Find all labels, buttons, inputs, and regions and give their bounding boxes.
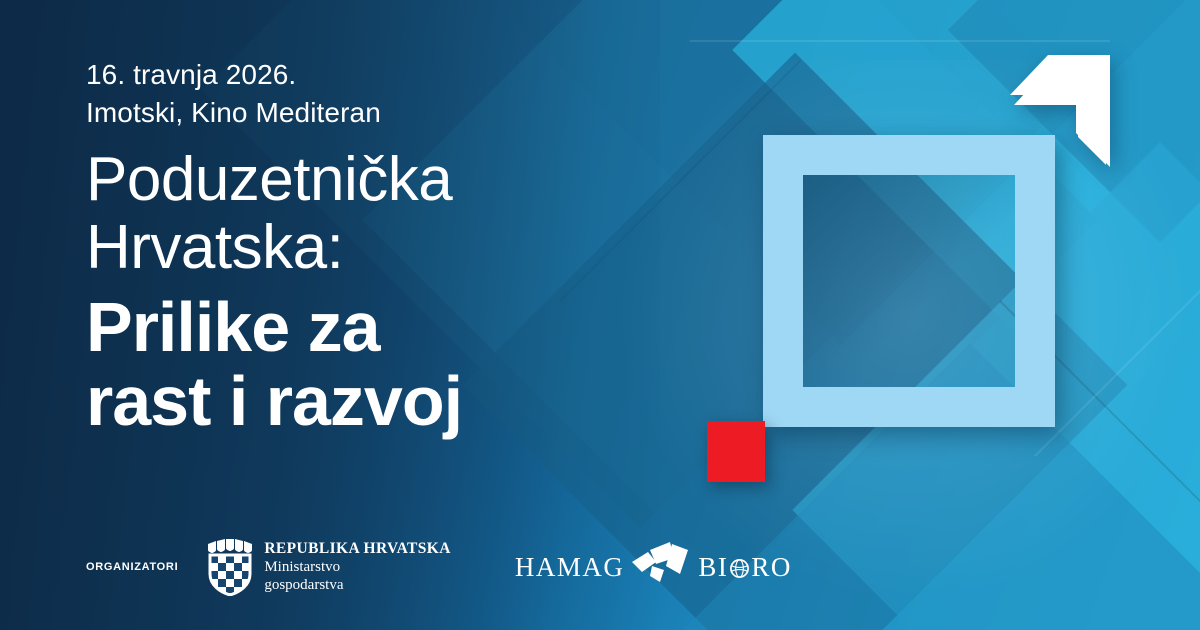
ministry-line-2: Ministarstvo <box>264 558 451 576</box>
ministry-logo: REPUBLIKA HRVATSKA Ministarstvo gospodar… <box>206 538 451 596</box>
hamag-bicro-logo: HAMAG BIRO <box>515 540 792 594</box>
organizers-label: ORGANIZATORI <box>86 561 178 573</box>
seam-line-3 <box>1034 271 1200 456</box>
red-square-accent <box>707 421 765 482</box>
title-light-line-2: Hrvatska: <box>86 214 706 282</box>
arrow-up-right-icon <box>1010 55 1110 167</box>
event-date: 16. travnja 2026. <box>86 56 706 94</box>
ministry-line-3: gospodarstva <box>264 576 451 594</box>
globe-swirl-o-icon <box>729 558 750 579</box>
bicro-prefix: BI <box>698 552 728 582</box>
title-bold-line-1: Prilike za <box>86 290 706 364</box>
footer-logos: ORGANIZATORI <box>86 538 792 596</box>
hamag-wordmark: HAMAG <box>515 552 625 582</box>
headline-block: 16. travnja 2026. Imotski, Kino Meditera… <box>86 56 706 438</box>
title-bold-line-2: rast i razvoj <box>86 364 706 438</box>
title-light-line-1: Poduzetnička <box>86 146 706 214</box>
ministry-text: REPUBLIKA HRVATSKA Ministarstvo gospodar… <box>264 540 451 594</box>
ministry-line-1: REPUBLIKA HRVATSKA <box>264 540 451 558</box>
square-frame-graphic <box>763 135 1055 427</box>
event-location: Imotski, Kino Mediteran <box>86 94 706 132</box>
hamag-bicro-wings-icon <box>630 540 692 584</box>
bicro-suffix: RO <box>751 552 792 582</box>
seam-line-1 <box>690 40 1110 42</box>
croatian-coat-of-arms-icon <box>206 538 254 596</box>
event-banner: 16. travnja 2026. Imotski, Kino Meditera… <box>0 0 1200 630</box>
bicro-wordmark: BIRO <box>698 552 792 582</box>
